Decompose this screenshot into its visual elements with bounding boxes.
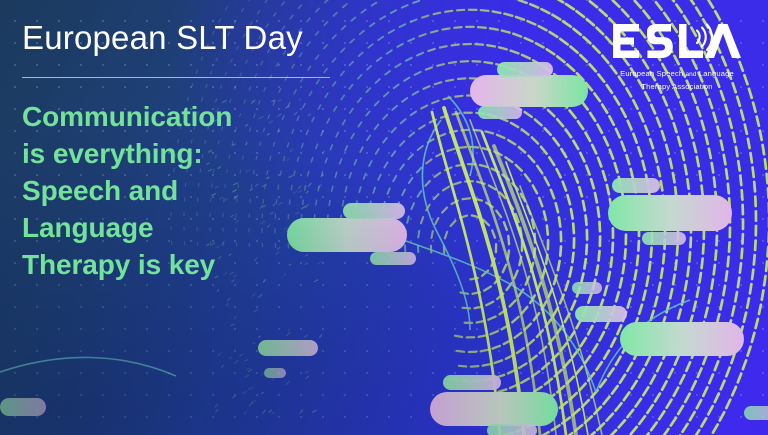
headline-line: Communication [22,98,442,135]
headline-line: Speech and [22,172,442,209]
page-title: European SLT Day [22,18,442,58]
esla-wordmark-icon [611,18,743,64]
headline-line: Therapy is key [22,246,442,283]
logo-tagline-line1-part1: European Speech [620,69,683,78]
logo-tagline: European Speech and Language Therapy Ass… [604,68,750,92]
logo-tagline-line1-part2: Language [699,69,734,78]
logo-tagline-line2: Therapy Association [641,82,712,91]
text-block: European SLT Day Communication is everyt… [22,18,442,283]
title-divider [22,77,330,78]
headline: Communication is everything: Speech and … [22,98,442,283]
poster-canvas: European SLT Day Communication is everyt… [0,0,768,435]
headline-line: is everything: [22,135,442,172]
headline-line: Language [22,209,442,246]
logo-tagline-and: and [685,71,696,78]
esla-logo: European Speech and Language Therapy Ass… [604,18,750,92]
